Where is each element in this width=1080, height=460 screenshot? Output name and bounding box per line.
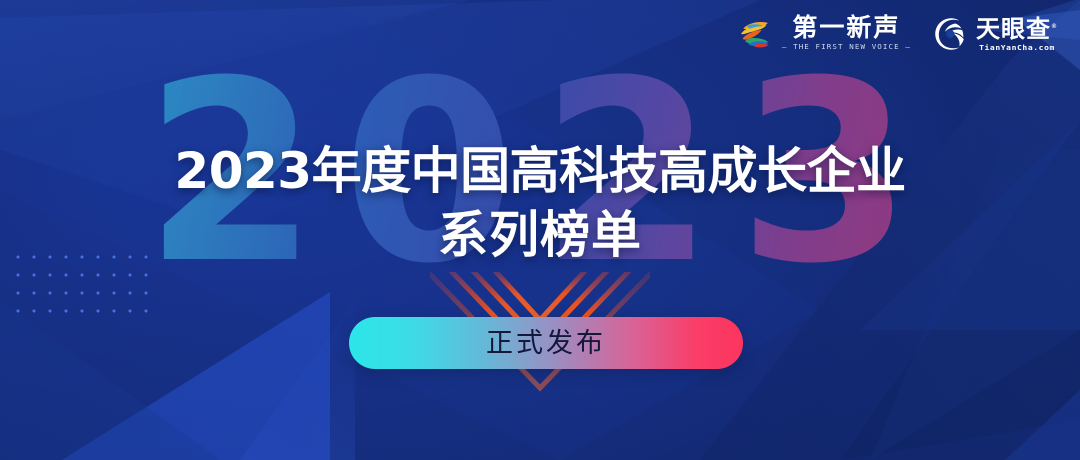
- logo-bar: 第一新声 — THE FIRST NEW VOICE — 天眼查® TianYa…: [737, 14, 1058, 53]
- logo-tianyancha[interactable]: 天眼查® TianYanCha.com: [933, 14, 1058, 53]
- logo-name-cn: 第一新声: [792, 15, 900, 41]
- title-line-2: 系列榜单: [0, 203, 1080, 267]
- trademark-symbol: ®: [1051, 23, 1058, 30]
- logo-tagline-en: — THE FIRST NEW VOICE —: [782, 41, 911, 51]
- status-badge-label: 正式发布: [486, 330, 606, 357]
- logo-diyixinsheng[interactable]: 第一新声 — THE FIRST NEW VOICE —: [737, 15, 911, 53]
- logo-name-cn: 天眼查®: [976, 14, 1058, 42]
- logo-tagline-en: TianYanCha.com: [979, 42, 1055, 52]
- ribbon-swirl-icon: [737, 15, 775, 53]
- shutter-eye-icon: [933, 16, 969, 52]
- logo-name-cn-text: 天眼查: [976, 15, 1051, 43]
- page-title: 2023年度中国高科技高成长企业 系列榜单: [0, 139, 1080, 267]
- status-badge: 正式发布: [349, 317, 743, 369]
- title-line-1: 2023年度中国高科技高成长企业: [0, 139, 1080, 203]
- promotional-banner: 2023 2023年度中国高科技高成长企业 系列榜单 正式: [0, 0, 1080, 460]
